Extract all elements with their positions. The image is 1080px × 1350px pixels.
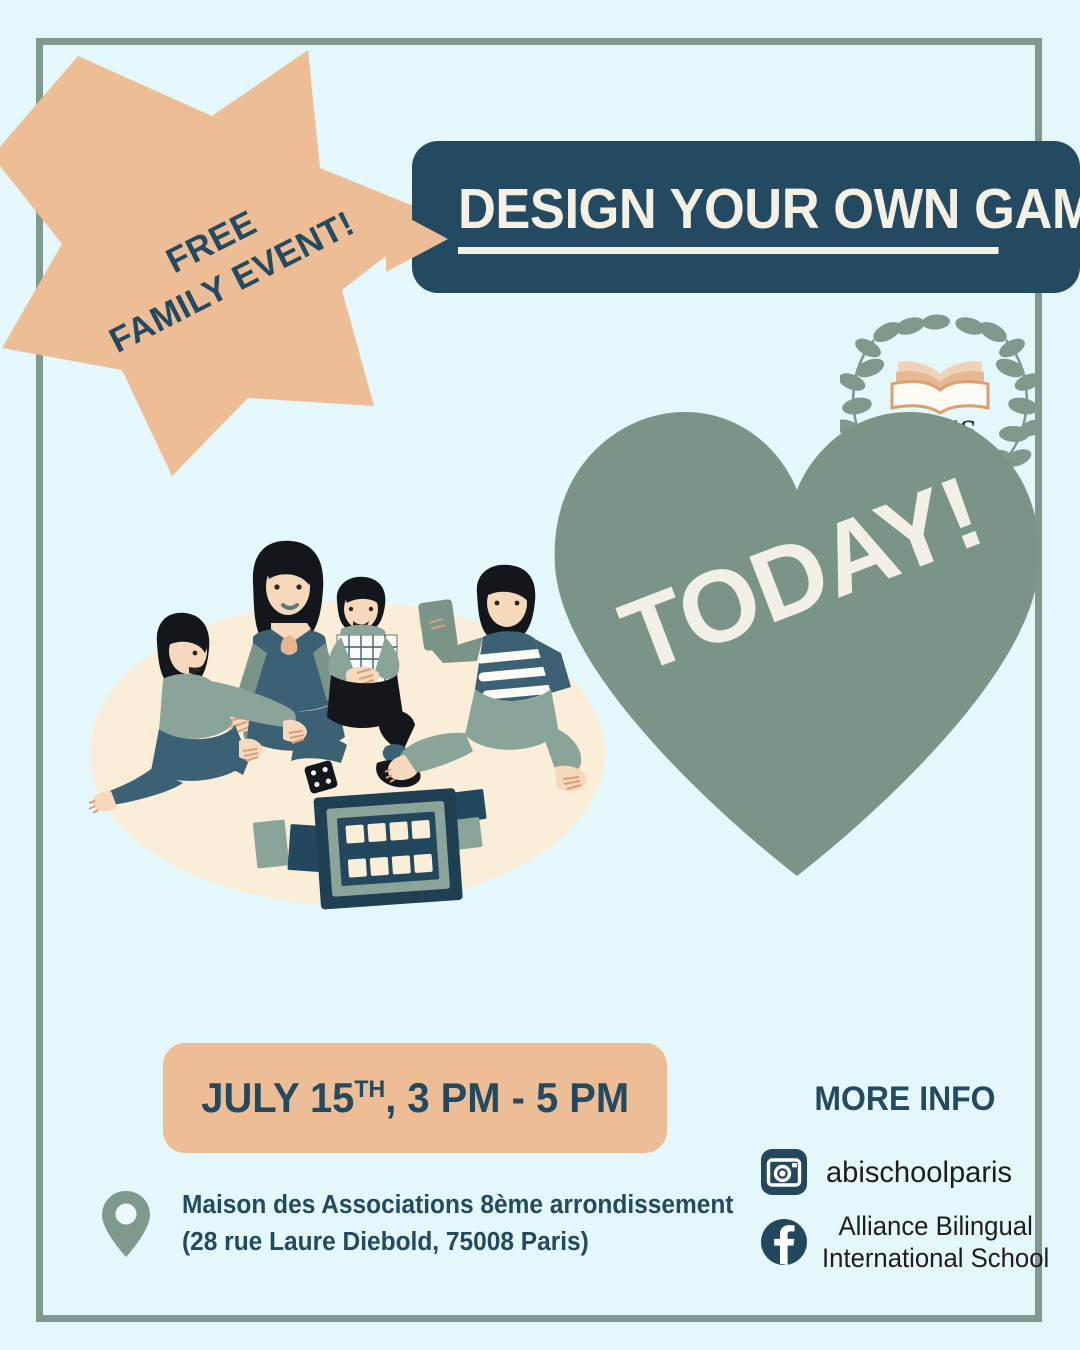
event-date-day: JULY 15: [201, 1074, 354, 1121]
poster-canvas: FREE FAMILY EVENT! DESIGN YOUR OWN GAME: [0, 0, 1080, 1350]
page-title: DESIGN YOUR OWN GAME: [458, 181, 997, 238]
instagram-row[interactable]: abischoolparis: [760, 1148, 1050, 1196]
instagram-icon[interactable]: [760, 1148, 808, 1196]
location-line-1: Maison des Associations 8ème arrondissem…: [182, 1187, 733, 1224]
facebook-row[interactable]: Alliance Bilingual International School: [760, 1210, 1050, 1275]
map-pin-icon: [100, 1189, 152, 1259]
event-location: Maison des Associations 8ème arrondissem…: [100, 1185, 700, 1261]
card-1: [253, 819, 290, 868]
event-date-text: JULY 15TH, 3 PM - 5 PM: [201, 1077, 629, 1119]
title-banner: DESIGN YOUR OWN GAME: [412, 141, 1080, 293]
location-line-2: (28 rue Laure Diebold, 75008 Paris): [182, 1224, 733, 1261]
facebook-page-name: Alliance Bilingual International School: [822, 1210, 1049, 1275]
event-date-pill: JULY 15TH, 3 PM - 5 PM: [163, 1043, 667, 1153]
star-point-overlay: [386, 206, 448, 272]
event-time: , 3 PM - 5 PM: [385, 1074, 629, 1121]
today-heart: TODAY!: [545, 398, 1050, 878]
game-board: [313, 788, 462, 910]
facebook-line-2: International School: [822, 1242, 1049, 1274]
facebook-icon[interactable]: [760, 1218, 808, 1266]
facebook-line-1: Alliance Bilingual: [822, 1210, 1049, 1242]
family-playing-board-game-illustration: [85, 525, 615, 925]
more-info-block: MORE INFO abischoolparis: [760, 1082, 1050, 1275]
free-event-star-badge: FREE FAMILY EVENT!: [0, 48, 440, 468]
event-date-ordinal: TH: [354, 1076, 385, 1103]
title-underline: [458, 247, 998, 254]
instagram-handle: abischoolparis: [826, 1156, 1012, 1189]
more-info-heading: MORE INFO: [769, 1082, 1042, 1116]
